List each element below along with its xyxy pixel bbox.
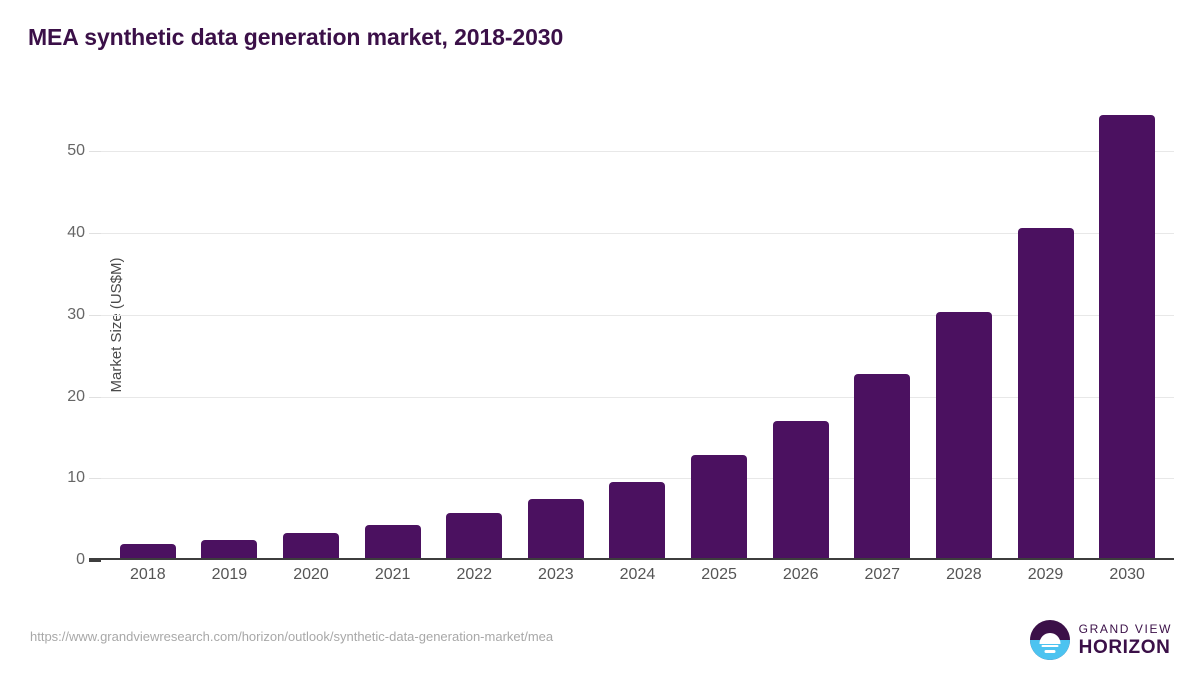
x-tick-label-2021: 2021 <box>352 566 434 594</box>
x-tick-label-2027: 2027 <box>841 566 923 594</box>
x-tick-label-2029: 2029 <box>1005 566 1087 594</box>
horizon-logo-icon <box>1030 620 1070 660</box>
bar-slot <box>270 90 352 560</box>
bar-slot <box>597 90 679 560</box>
bar-2028[interactable] <box>936 312 992 560</box>
x-axis-labels: 2018201920202021202220232024202520262027… <box>101 566 1174 594</box>
bar-2023[interactable] <box>528 499 584 560</box>
bar-slot <box>1086 90 1168 560</box>
y-tick-label: 40 <box>25 224 85 242</box>
bar-slot <box>352 90 434 560</box>
y-tick-mark <box>89 151 101 152</box>
bar-2024[interactable] <box>609 482 665 560</box>
bar-2030[interactable] <box>1099 115 1155 560</box>
bar-2020[interactable] <box>283 533 339 560</box>
bar-slot <box>678 90 760 560</box>
chart-page: MEA synthetic data generation market, 20… <box>0 0 1200 675</box>
x-tick-label-2019: 2019 <box>189 566 271 594</box>
bar-slot <box>189 90 271 560</box>
y-tick-label: 20 <box>25 388 85 406</box>
plot-area: Market Size (US$M) 01020304050 <box>101 90 1174 560</box>
bar-slot <box>760 90 842 560</box>
y-tick-mark <box>89 233 101 234</box>
x-tick-label-2022: 2022 <box>433 566 515 594</box>
logo-wordmark: GRAND VIEW HORIZON <box>1079 623 1172 657</box>
bar-2026[interactable] <box>773 421 829 560</box>
bar-series <box>101 90 1174 560</box>
y-tick-mark <box>89 397 101 398</box>
y-tick-mark <box>89 560 101 562</box>
y-tick-label: 30 <box>25 306 85 324</box>
page-title: MEA synthetic data generation market, 20… <box>28 24 563 51</box>
source-url[interactable]: https://www.grandviewresearch.com/horizo… <box>30 629 553 644</box>
y-tick-label: 10 <box>25 469 85 487</box>
logo-line-lower <box>1044 650 1055 653</box>
x-tick-label-2023: 2023 <box>515 566 597 594</box>
x-tick-label-2025: 2025 <box>678 566 760 594</box>
bar-slot <box>107 90 189 560</box>
y-tick-mark <box>89 478 101 479</box>
logo-top-text: GRAND VIEW <box>1079 623 1172 635</box>
x-tick-label-2026: 2026 <box>760 566 842 594</box>
grand-view-horizon-logo[interactable]: GRAND VIEW HORIZON <box>1030 620 1172 660</box>
bar-2022[interactable] <box>446 513 502 560</box>
logo-line-upper <box>1041 645 1058 648</box>
x-axis-line <box>89 558 1174 560</box>
x-tick-label-2028: 2028 <box>923 566 1005 594</box>
bar-slot <box>433 90 515 560</box>
x-tick-label-2020: 2020 <box>270 566 352 594</box>
bar-2029[interactable] <box>1018 228 1074 560</box>
bar-slot <box>515 90 597 560</box>
bar-2025[interactable] <box>691 455 747 560</box>
x-tick-label-2018: 2018 <box>107 566 189 594</box>
logo-bottom-text: HORIZON <box>1079 638 1172 657</box>
bar-slot <box>923 90 1005 560</box>
bar-slot <box>1005 90 1087 560</box>
x-tick-label-2024: 2024 <box>597 566 679 594</box>
bar-2027[interactable] <box>854 374 910 560</box>
y-tick-label: 0 <box>25 551 85 569</box>
footer-divider <box>0 612 1200 613</box>
y-tick-label: 50 <box>25 142 85 160</box>
x-tick-label-2030: 2030 <box>1086 566 1168 594</box>
bar-slot <box>841 90 923 560</box>
bar-2021[interactable] <box>365 525 421 560</box>
logo-dome-shape <box>1039 633 1060 644</box>
y-tick-mark <box>89 315 101 316</box>
